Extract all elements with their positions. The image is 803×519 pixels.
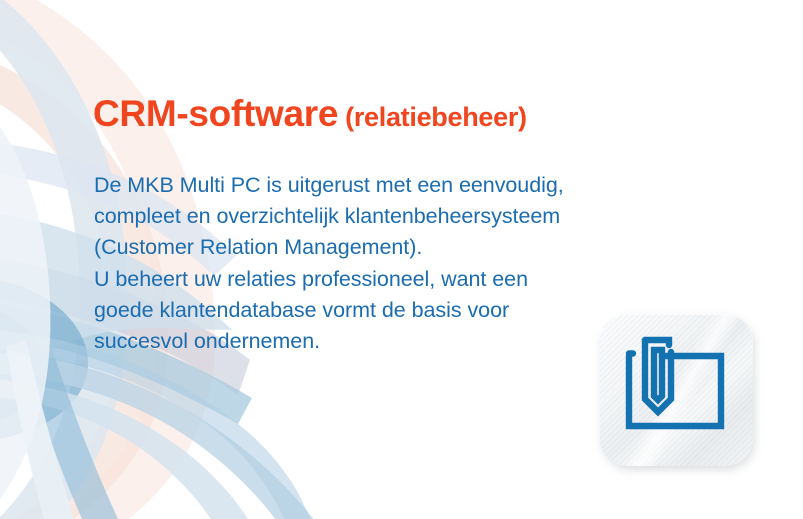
slide-canvas: CRM-software(relatiebeheer) De MKB Multi…: [0, 0, 803, 519]
body-text: De MKB Multi PC is uitgerust met een een…: [94, 170, 674, 357]
body-line: U beheert uw relaties professioneel, wan…: [94, 264, 674, 295]
body-line: succesvol ondernemen.: [94, 326, 674, 357]
folder-with-paperclip-icon: [600, 314, 753, 466]
body-line: goede klantendatabase vormt de basis voo…: [94, 295, 674, 326]
body-line: (Customer Relation Management).: [94, 232, 674, 263]
slide-content: CRM-software(relatiebeheer) De MKB Multi…: [0, 0, 803, 519]
body-line: compleet en overzichtelijk klantenbeheer…: [94, 201, 674, 232]
crm-icon-tile: [600, 314, 757, 471]
body-line: De MKB Multi PC is uitgerust met een een…: [94, 170, 674, 201]
page-title-sub: (relatiebeheer): [345, 102, 527, 132]
page-title: CRM-software(relatiebeheer): [93, 92, 527, 139]
page-title-main: CRM-software: [93, 93, 338, 134]
